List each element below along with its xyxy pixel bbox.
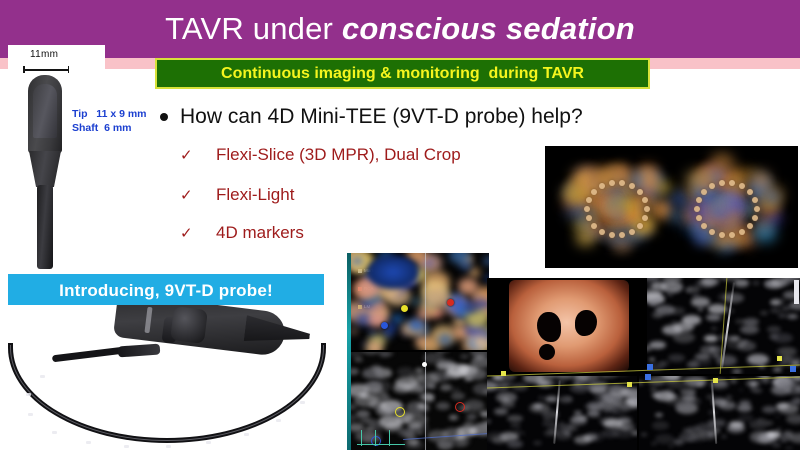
- echo-speckle: [351, 384, 369, 397]
- main-bullet: How can 4D Mini-TEE (9VT-D probe) help?: [160, 100, 680, 134]
- page-title: TAVR under conscious sedation: [0, 4, 800, 52]
- shaft-depth-marker: [26, 393, 31, 396]
- check-icon: ✓: [180, 226, 192, 241]
- shaft-depth-marker: [28, 413, 33, 416]
- echo-speckle: [375, 405, 394, 416]
- echo-speckle: [533, 441, 542, 445]
- shaft-depth-marker: [86, 441, 91, 444]
- echo-speckle: [641, 433, 647, 436]
- valve-strut-node: [709, 229, 715, 235]
- echo-2d-grayscale-view: [351, 352, 489, 450]
- echo-speckle: [698, 308, 703, 311]
- echo-speckle: [689, 426, 699, 431]
- echo-speckle: [574, 411, 582, 415]
- echo-speckle: [684, 376, 707, 387]
- echo-speckle: [555, 431, 572, 440]
- echo-speckle: [603, 419, 622, 429]
- echo-texture: [369, 330, 376, 335]
- echo-speckle: [649, 302, 656, 306]
- mpr-slice-line: [425, 253, 426, 350]
- echo-texture: [708, 208, 715, 214]
- echo-speckle: [776, 403, 788, 409]
- echo-speckle: [760, 311, 767, 315]
- cyan-banner-label: Introducing, 9VT-D probe!: [59, 281, 273, 301]
- echo-speckle: [588, 401, 602, 408]
- echo-speckle: [739, 400, 750, 406]
- echo-speckle: [766, 421, 773, 424]
- echo-3d-marker-view: Markers RCA LM: [351, 253, 489, 350]
- echo-speckle: [417, 432, 422, 435]
- echo-texture: [750, 171, 770, 188]
- shaft-depth-marker: [244, 433, 249, 436]
- probe-control-knob: [170, 306, 208, 344]
- echo-speckle: [436, 362, 451, 370]
- echo-speckle: [775, 415, 780, 418]
- echo-speckle: [651, 282, 666, 289]
- echo-speckle: [786, 414, 800, 424]
- echo-speckle: [449, 415, 457, 420]
- echo-texture: [458, 278, 478, 294]
- echo-speckle: [771, 298, 786, 305]
- echo-speckle: [566, 397, 571, 399]
- echo-speckle: [680, 388, 696, 396]
- echo-speckle: [492, 436, 509, 444]
- echo-speckle: [747, 354, 769, 365]
- echo-texture: [670, 191, 689, 207]
- echo-chamber: [367, 255, 419, 289]
- echo-speckle: [772, 333, 793, 344]
- valve-strut-node: [584, 206, 590, 212]
- echo-texture: [694, 232, 709, 245]
- valve-strut-node: [694, 206, 700, 212]
- echo-speckle: [620, 388, 637, 399]
- echo-speckle: [787, 314, 797, 319]
- dimension-measure-line: [23, 66, 69, 73]
- dimension-label: 11mm: [30, 49, 58, 60]
- echo-speckle: [545, 396, 557, 402]
- echo-speckle: [771, 278, 789, 287]
- sub-bullet-2: ✓ 4D markers: [180, 219, 600, 247]
- echo-texture: [469, 268, 479, 276]
- probe-tip-illustration: [22, 75, 82, 265]
- echo-speckle: [649, 358, 655, 361]
- echo-speckle: [612, 409, 618, 412]
- valve-strut-node: [586, 197, 592, 203]
- echo-speckle: [669, 445, 673, 447]
- echo-texture: [656, 181, 672, 195]
- mpr-marker-tick[interactable]: [501, 371, 506, 376]
- ecg-baseline: [357, 444, 405, 445]
- echo-speckle: [721, 435, 727, 438]
- marker-ring: [455, 402, 465, 412]
- valve-orifice: [537, 312, 561, 342]
- marker-dot: [401, 305, 408, 312]
- echo-speckle: [761, 378, 770, 383]
- sub-bullet-label: Flexi-Light: [216, 185, 294, 205]
- marker-dot: [381, 322, 388, 329]
- echo-speckle: [662, 325, 682, 335]
- shaft-depth-marker: [124, 445, 129, 448]
- echo-speckle: [701, 278, 719, 286]
- echo-speckle: [749, 420, 768, 429]
- echo-texture: [408, 318, 426, 332]
- echo-speckle: [673, 439, 685, 445]
- mpr-marker-tick[interactable]: [627, 382, 632, 387]
- echo-speckle: [651, 393, 659, 397]
- echo-texture: [483, 256, 489, 266]
- echo-texture: [613, 166, 631, 181]
- echo-texture: [417, 308, 431, 319]
- probe-spec-text: Tip 11 x 9 mmShaft 6 mm: [72, 107, 147, 135]
- echo-speckle: [652, 421, 669, 430]
- check-icon: ✓: [180, 188, 192, 203]
- shaft-depth-marker: [166, 445, 171, 448]
- valve-strut-node: [752, 215, 758, 221]
- echo-speckle: [466, 414, 477, 420]
- valve-strut-node: [729, 232, 735, 238]
- echo-speckle: [767, 326, 782, 333]
- valve-strut-node: [609, 232, 615, 238]
- echo-speckle: [773, 367, 782, 372]
- echo-speckle: [655, 434, 675, 444]
- echo-image-3d-dual: [545, 146, 798, 268]
- depth-scale-bar: [794, 280, 799, 304]
- probe-transducer-window: [33, 84, 57, 138]
- echo-speckle: [752, 281, 761, 285]
- echo-speckle: [790, 399, 800, 405]
- echo-speckle: [785, 383, 800, 394]
- echo-texture: [424, 288, 451, 309]
- echo-speckle: [460, 354, 469, 359]
- marker-ring: [395, 407, 405, 417]
- echo-speckle: [686, 289, 691, 291]
- echo-speckle: [507, 440, 523, 448]
- slide-canvas: TAVR under conscious sedation Continuous…: [0, 0, 800, 450]
- valve-strut-node: [591, 223, 597, 229]
- shaft-depth-marker: [206, 441, 211, 444]
- echo-image-quad-mpr: [487, 278, 800, 450]
- echo-speckle: [602, 410, 609, 413]
- echo-texture: [464, 302, 477, 312]
- green-banner-label: Continuous imaging & monitoring during T…: [221, 65, 584, 83]
- shaft-depth-marker: [52, 431, 57, 434]
- probe-spec-line1: Tip 11 x 9 mm: [72, 108, 147, 120]
- mpr-marker-tick[interactable]: [777, 356, 782, 361]
- valve-strut-node: [739, 229, 745, 235]
- valve-strut-node: [696, 215, 702, 221]
- echo-speckle: [739, 389, 743, 391]
- valve-strut-node: [754, 206, 760, 212]
- sub-bullet-label: Flexi-Slice (3D MPR), Dual Crop: [216, 145, 461, 165]
- valve-strut-node: [599, 229, 605, 235]
- mpr-plane: [639, 376, 800, 450]
- echo-speckle: [378, 377, 384, 380]
- shaft-depth-marker: [300, 401, 305, 404]
- echo-speckle: [351, 404, 357, 410]
- echo-speckle: [732, 369, 743, 374]
- echo-speckle: [762, 406, 776, 413]
- echo-speckle: [667, 394, 678, 399]
- echo-speckle: [440, 384, 452, 391]
- echo-speckle: [715, 402, 719, 404]
- echo-speckle: [436, 439, 452, 448]
- valve-strut-node: [696, 197, 702, 203]
- shaft-depth-marker: [276, 419, 281, 422]
- echo-speckle: [379, 352, 391, 357]
- sub-bullet-label: 4D markers: [216, 223, 304, 243]
- echo-speckle: [510, 423, 521, 429]
- echo-image-center-column: Markers RCA LM: [347, 253, 489, 450]
- valve-orifice: [575, 310, 597, 336]
- sub-bullet-0: ✓ Flexi-Slice (3D MPR), Dual Crop: [180, 141, 600, 169]
- echo-speckle: [697, 382, 704, 385]
- echo-speckle: [647, 289, 662, 298]
- probe-photo: [0, 305, 345, 450]
- echo-texture: [411, 298, 420, 306]
- echo-speckle: [467, 368, 487, 379]
- echo-texture: [576, 230, 595, 246]
- echo-speckle: [785, 446, 793, 450]
- echo-texture: [352, 257, 362, 265]
- sub-bullet-1: ✓ Flexi-Light: [180, 181, 600, 209]
- echo-speckle: [689, 323, 695, 326]
- echo-speckle: [726, 338, 746, 348]
- echo-speckle: [711, 327, 717, 330]
- echo-speckle: [521, 432, 526, 434]
- echo-3d-volume-render: [509, 280, 629, 372]
- echo-speckle: [734, 279, 749, 287]
- valve-strut-node: [719, 232, 725, 238]
- mpr-marker-tick[interactable]: [645, 374, 651, 380]
- valve-strut-node: [637, 223, 643, 229]
- echo-speckle: [607, 385, 622, 392]
- probe-spec-line2: Shaft 6 mm: [72, 122, 132, 134]
- echo-speckle: [507, 415, 523, 423]
- mpr-slice-handle[interactable]: [422, 362, 427, 367]
- main-bullet-label: How can 4D Mini-TEE (9VT-D probe) help?: [180, 105, 583, 129]
- echo-speckle: [494, 408, 509, 415]
- shaft-depth-marker: [40, 375, 45, 378]
- echo-texture: [669, 210, 685, 224]
- valve-strut-node: [586, 215, 592, 221]
- probe-tip-shaft: [37, 185, 53, 269]
- green-banner: Continuous imaging & monitoring during T…: [155, 58, 650, 89]
- echo-speckle: [772, 443, 780, 447]
- echo-speckle: [655, 413, 663, 417]
- echo-speckle: [719, 401, 736, 410]
- echo-speckle: [660, 362, 666, 365]
- echo-speckle: [704, 335, 718, 342]
- echo-speckle: [487, 420, 491, 423]
- echo-speckle: [716, 355, 737, 366]
- valve-strut-node: [701, 223, 707, 229]
- echo-speckle: [426, 383, 436, 389]
- valve-strut-node: [629, 229, 635, 235]
- echo-speckle: [354, 357, 363, 362]
- echo-speckle: [743, 318, 759, 326]
- mpr-marker-tick[interactable]: [647, 364, 653, 370]
- bullet-dot-icon: [160, 113, 168, 121]
- echo-speckle: [735, 319, 745, 324]
- echo-texture: [706, 166, 716, 175]
- echo-speckle: [574, 436, 590, 444]
- echo-speckle: [651, 442, 657, 445]
- echo-speckle: [726, 396, 732, 399]
- valve-strut-node: [747, 223, 753, 229]
- echo-texture: [438, 334, 452, 345]
- echo-speckle: [649, 341, 667, 350]
- marker-dot: [447, 299, 454, 306]
- echo-speckle: [668, 354, 685, 362]
- echo-speckle: [496, 392, 518, 403]
- echo-speckle: [781, 439, 787, 442]
- echo-speckle: [436, 402, 450, 410]
- echo-texture: [685, 170, 708, 189]
- echo-texture: [729, 201, 735, 206]
- echo-texture: [433, 284, 439, 289]
- title-regular: TAVR under: [165, 13, 342, 44]
- echo-speckle: [395, 377, 417, 389]
- echo-texture: [765, 191, 779, 203]
- echo-speckle: [567, 426, 572, 429]
- echo-texture: [362, 342, 367, 346]
- title-emphasis: conscious sedation: [342, 13, 635, 44]
- echo-speckle: [740, 325, 759, 335]
- echo-speckle: [789, 433, 800, 444]
- valve-strut-node: [644, 206, 650, 212]
- echo-speckle: [650, 388, 657, 391]
- echo-speckle: [770, 308, 781, 314]
- valve-strut-node: [619, 232, 625, 238]
- echo-texture: [351, 328, 357, 334]
- mpr-marker-tick[interactable]: [713, 378, 718, 383]
- mpr-marker-tick[interactable]: [790, 366, 796, 372]
- echo-speckle: [356, 410, 370, 418]
- echo-texture: [473, 336, 488, 348]
- probe-tip-neck: [29, 151, 61, 187]
- echo-speckle: [352, 370, 357, 373]
- echo-texture: [369, 344, 380, 350]
- echo-speckle: [777, 428, 782, 430]
- check-icon: ✓: [180, 148, 192, 163]
- echo-speckle: [691, 297, 711, 307]
- echo-speckle: [751, 383, 757, 386]
- echo-speckle: [667, 294, 672, 297]
- echo-speckle: [706, 314, 721, 322]
- echo-speckle: [778, 313, 787, 317]
- echo-texture: [563, 201, 570, 207]
- echo-speckle: [767, 431, 781, 438]
- echo-speckle: [781, 306, 792, 311]
- echo-speckle: [695, 353, 709, 360]
- valve-orifice: [539, 344, 555, 360]
- cyan-banner: Introducing, 9VT-D probe!: [8, 274, 324, 308]
- echo-speckle: [451, 392, 465, 400]
